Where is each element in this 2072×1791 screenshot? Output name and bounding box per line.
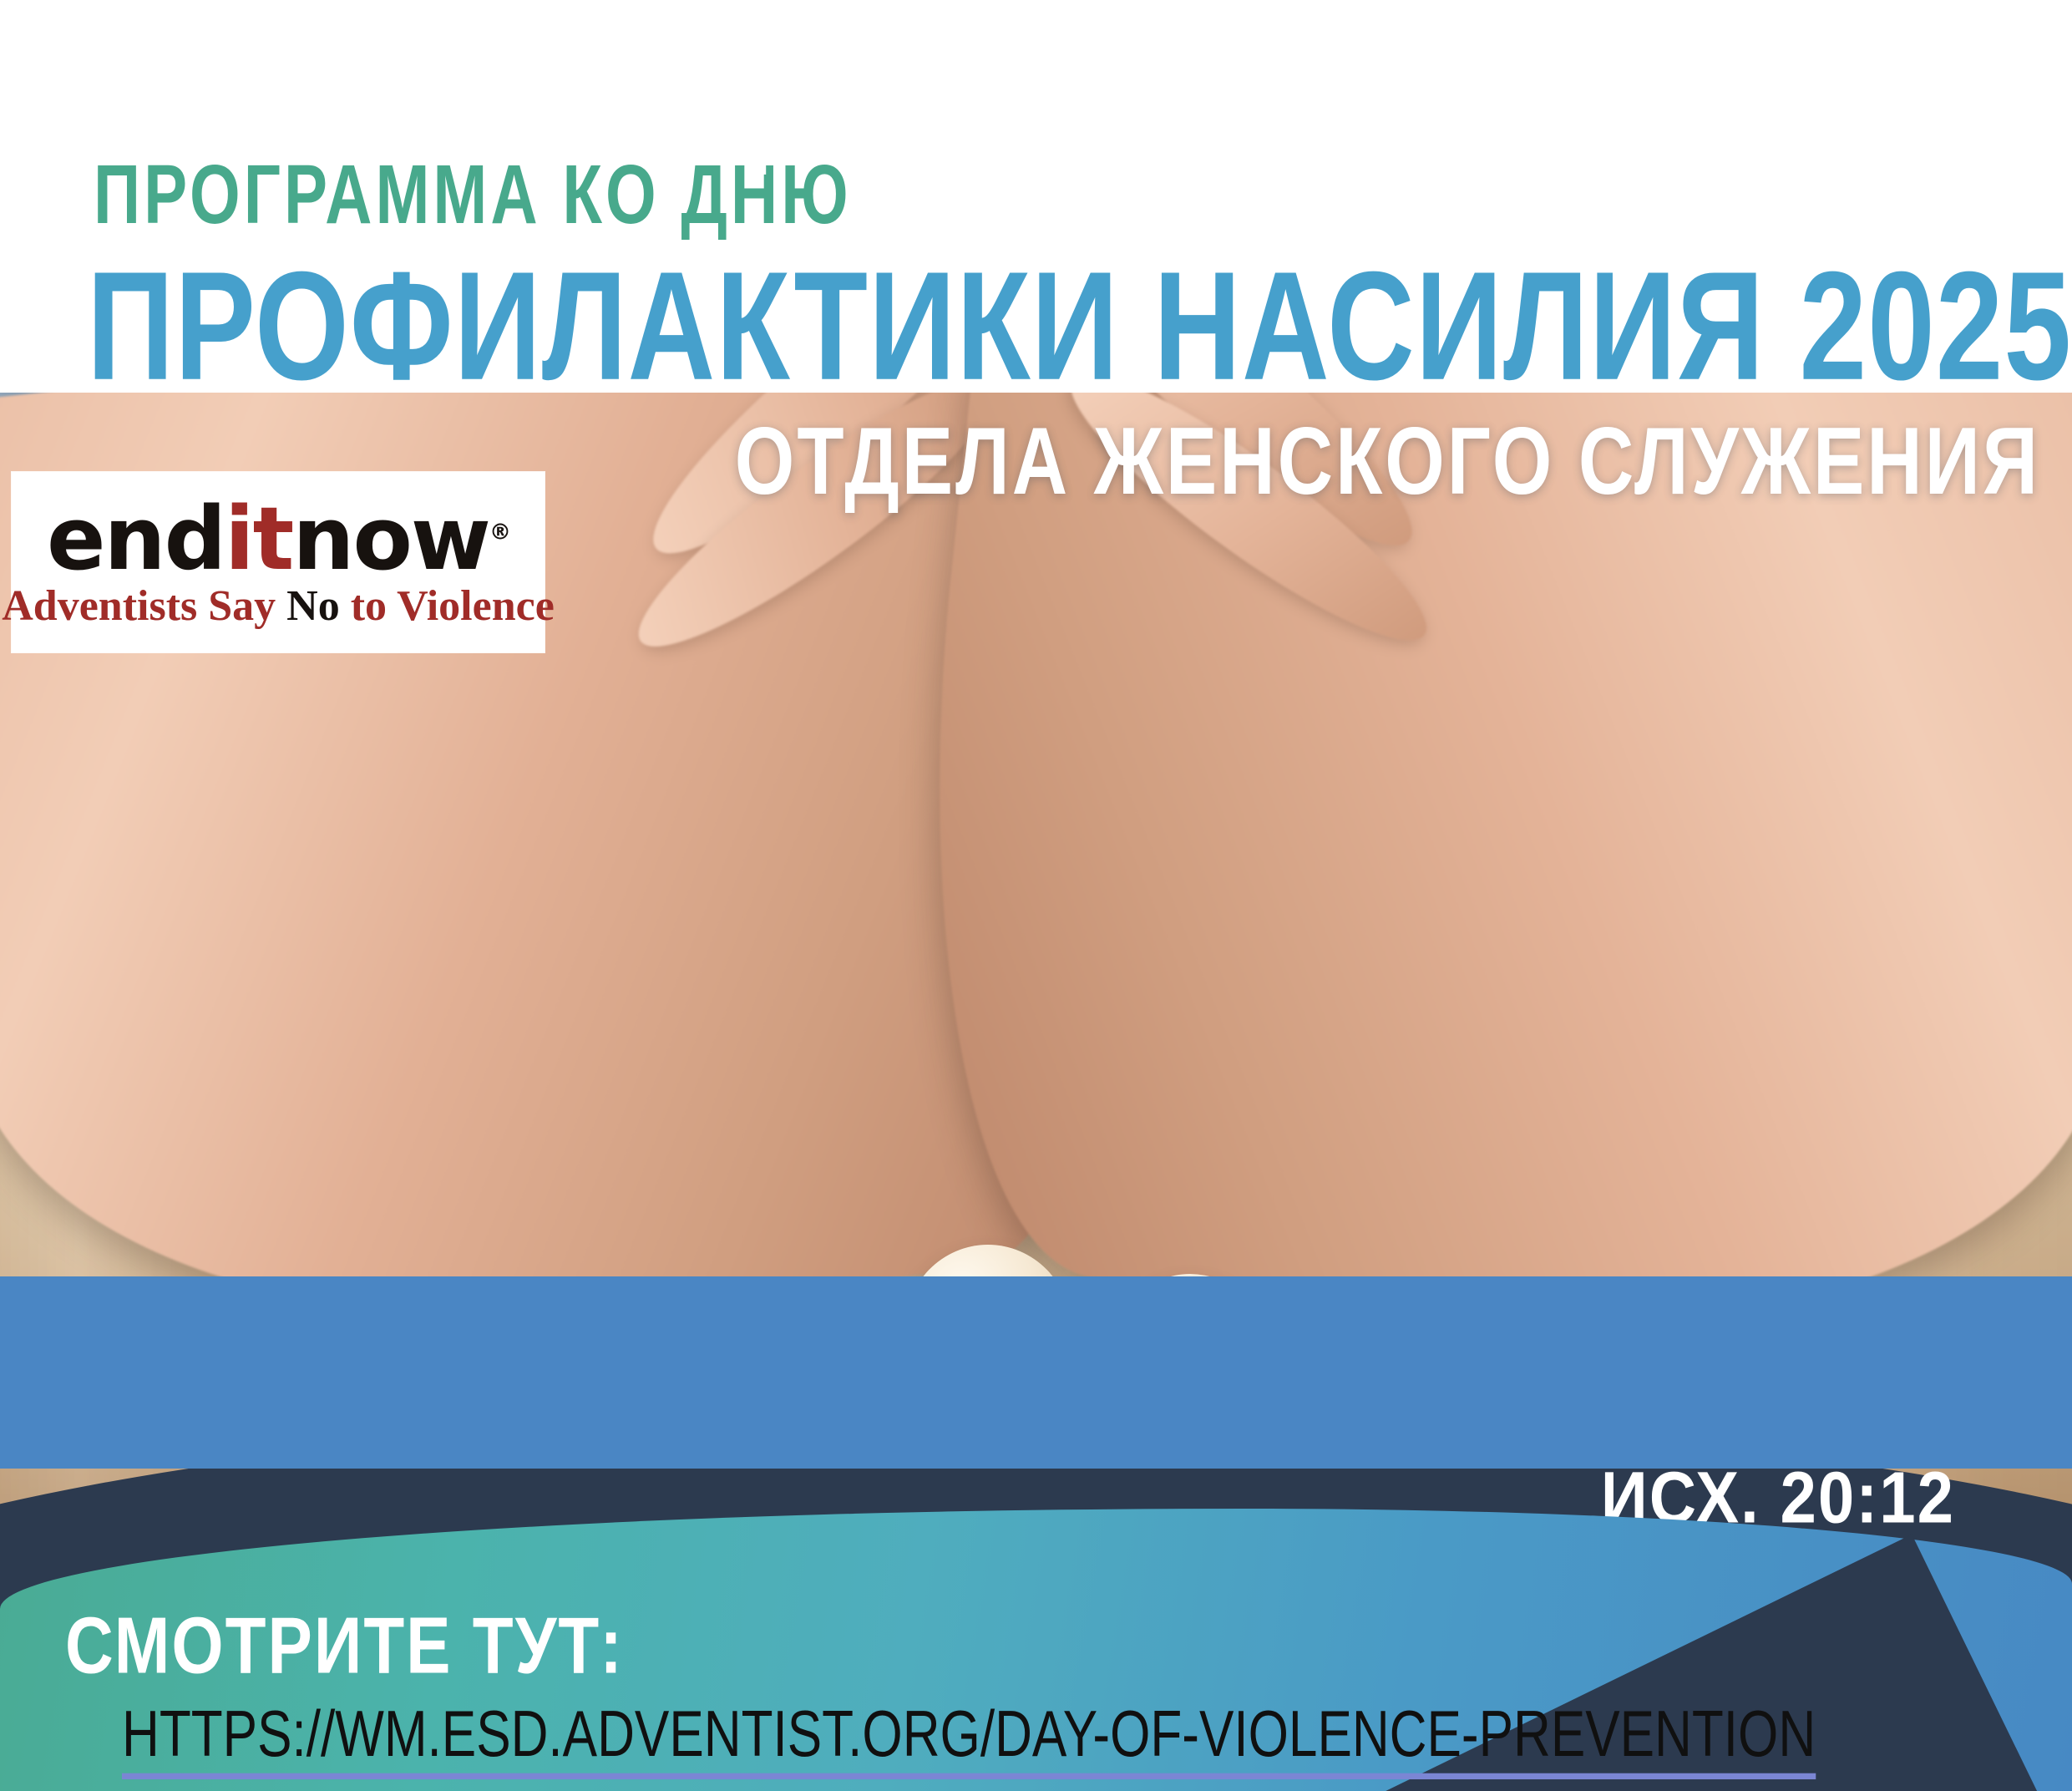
- program-url-link[interactable]: HTTPS://WM.ESD.ADVENTIST.ORG/DAY-OF-VIOL…: [122, 1696, 1816, 1779]
- cta-label: СМОТРИТЕ ТУТ:: [65, 1600, 624, 1692]
- quote-band: [0, 1276, 2072, 1469]
- enditnow-logo: enditnow® Adventists Say No to Violence: [12, 472, 545, 652]
- page-title: ПРОФИЛАКТИКИ НАСИЛИЯ 2025: [87, 238, 2072, 416]
- quote-band-fade: [1112, 1276, 2072, 1469]
- right-hand: [879, 393, 2072, 1380]
- logo-word-end: end: [47, 488, 225, 590]
- logo-word-it: it: [225, 488, 292, 590]
- quote-visible-part: “ПОЧИТАЙ ОТЦА ТВОЕГО И: [37, 41, 1361, 177]
- scripture-quote: “ПОЧИТАЙ ОТЦА ТВОЕГО И МАТЬ ТВОЮ...”: [37, 38, 2069, 179]
- enditnow-tagline: Adventists Say No to Violence: [2, 584, 555, 630]
- registered-trademark-icon: ®: [489, 520, 509, 545]
- right-hand-palm: [879, 393, 2072, 1380]
- poster-root: ПРОГРАММА КО ДНЮ ПРОФИЛАКТИКИ НАСИЛИЯ 20…: [0, 0, 2072, 1791]
- header-subtitle: ОТДЕЛА ЖЕНСКОГО СЛУЖЕНИЯ: [735, 408, 2040, 516]
- quote-faded-part: МАТЬ ТВОЮ...”: [1361, 41, 2069, 177]
- logo-word-now: now: [292, 488, 489, 590]
- enditnow-wordmark: enditnow®: [47, 495, 509, 582]
